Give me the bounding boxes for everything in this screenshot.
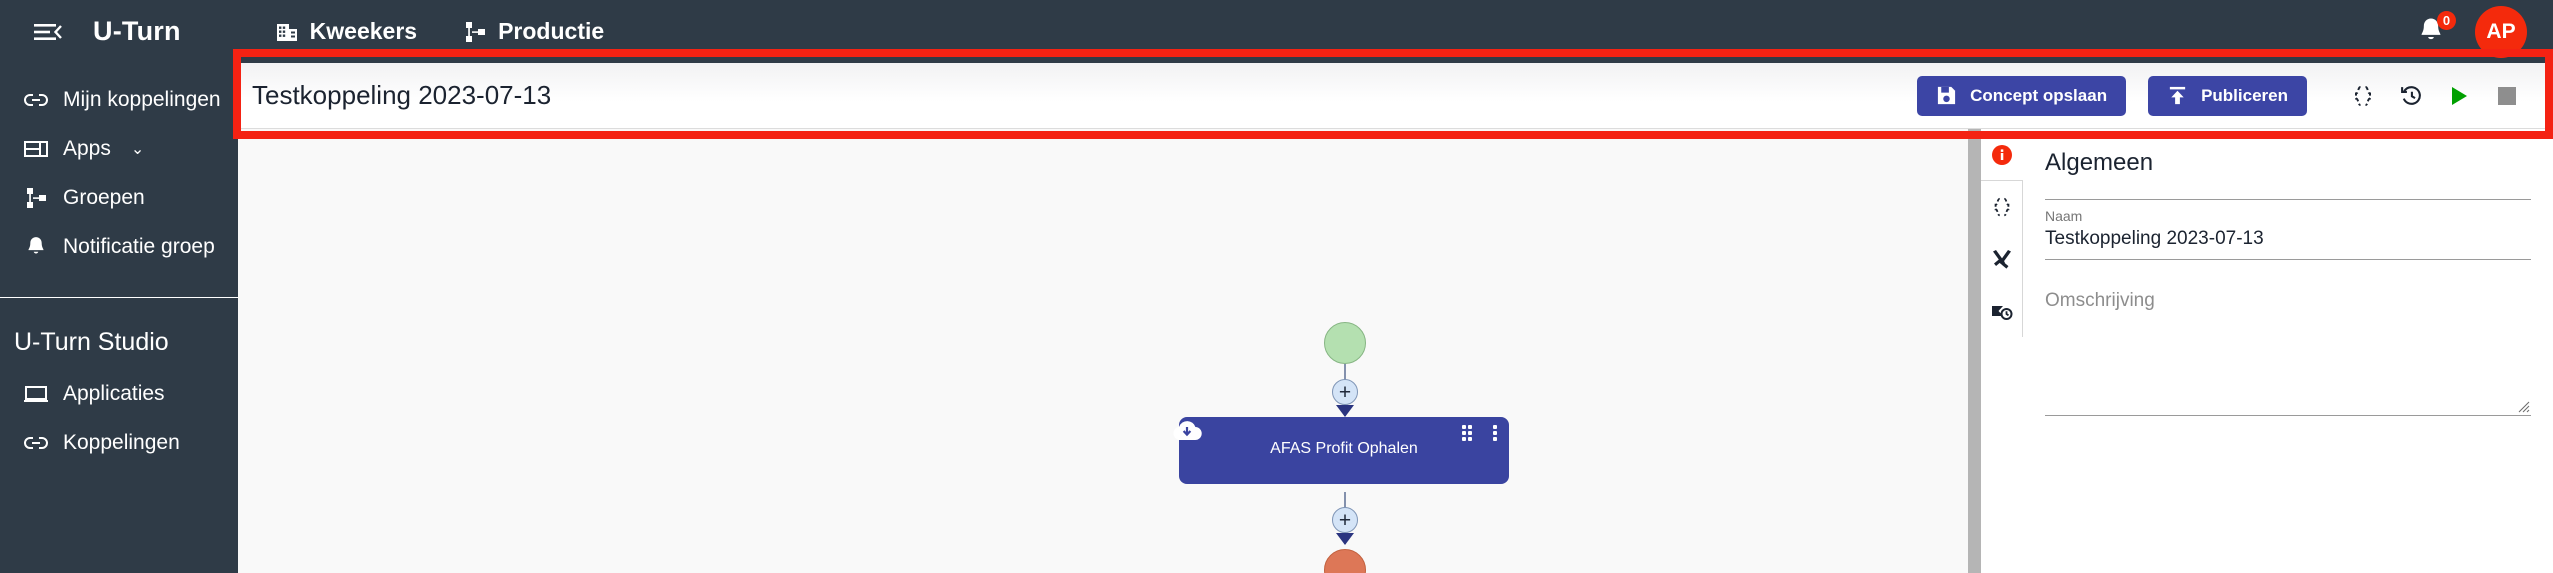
flow-canvas[interactable]: + AFAS Profit Ophalen + <box>238 129 1968 573</box>
toolbar-actions: Concept opslaan Publiceren <box>1917 74 2531 118</box>
rail-tab-scheduler[interactable] <box>1981 285 2023 337</box>
rail-tab-info[interactable] <box>1981 129 2023 181</box>
publish-label: Publiceren <box>2201 86 2288 106</box>
brand-title[interactable]: U-Turn <box>93 16 181 47</box>
sidebar-item-apps[interactable]: Apps ⌄ <box>0 124 238 173</box>
panel-title: Algemeen <box>2023 129 2553 177</box>
sidebar-label-groepen: Groepen <box>63 186 145 210</box>
start-node[interactable] <box>1324 322 1366 364</box>
arrowhead-into-end <box>1336 533 1354 545</box>
sitemap-icon <box>463 20 487 44</box>
inspector-panel: Algemeen Naam Testkoppeling 2023-07-13 O… <box>2023 129 2553 573</box>
sidebar-item-koppelingen[interactable]: Koppelingen <box>0 418 238 467</box>
save-floppy-icon <box>1936 85 1957 106</box>
rail-tab-tools[interactable] <box>1981 233 2023 285</box>
nav-label-kweekers: Kweekers <box>310 18 417 45</box>
monitor-icon <box>23 385 49 403</box>
appbar-right-group: 0 AP <box>2417 6 2527 58</box>
sidebar-label-notificatie-groep: Notificatie groep <box>63 235 215 259</box>
notification-badge: 0 <box>2437 11 2456 30</box>
stop-button[interactable] <box>2483 74 2531 118</box>
canvas-scrollbar[interactable] <box>1968 129 1981 573</box>
app-window-icon <box>23 140 49 158</box>
add-step-button-bottom[interactable]: + <box>1332 507 1358 533</box>
field-naam: Naam Testkoppeling 2023-07-13 <box>2045 199 2531 260</box>
drag-grip-icon[interactable] <box>1462 425 1475 441</box>
save-draft-label: Concept opslaan <box>1970 86 2107 106</box>
run-button[interactable] <box>2435 74 2483 118</box>
nav-item-productie[interactable]: Productie <box>463 18 604 45</box>
link-icon <box>23 435 49 451</box>
save-draft-button[interactable]: Concept opslaan <box>1917 76 2126 116</box>
nav-label-productie: Productie <box>498 18 604 45</box>
sidebar-item-mijn-koppelingen[interactable]: Mijn koppelingen <box>0 75 238 124</box>
upload-arrow-icon <box>2167 85 2188 106</box>
sitemap-icon <box>23 186 49 210</box>
sidebar-item-notificatie-groep[interactable]: Notificatie groep <box>0 222 238 271</box>
cloud-download-icon <box>1170 418 1204 442</box>
page-title[interactable]: Testkoppeling 2023-07-13 <box>252 80 551 111</box>
description-field: Omschrijving <box>2045 290 2531 416</box>
flow-toolbar: Testkoppeling 2023-07-13 Concept opslaan… <box>238 63 2553 129</box>
resize-handle-icon[interactable] <box>2518 401 2530 413</box>
publish-button[interactable]: Publiceren <box>2148 76 2307 116</box>
link-icon <box>23 92 49 108</box>
curly-braces-icon <box>2351 84 2375 108</box>
sidebar-item-applicaties[interactable]: Applicaties <box>0 369 238 418</box>
history-clock-icon <box>2399 83 2424 108</box>
hamburger-collapse-icon[interactable] <box>33 21 63 43</box>
view-code-button[interactable] <box>2339 74 2387 118</box>
name-input[interactable]: Testkoppeling 2023-07-13 <box>2045 224 2531 260</box>
sidebar-label-mijn-koppelingen: Mijn koppelingen <box>63 88 221 112</box>
sidebar-label-applicaties: Applicaties <box>63 382 165 406</box>
nav-item-kweekers[interactable]: Kweekers <box>275 18 417 45</box>
tools-icon <box>1990 247 2014 271</box>
sidebar-label-koppelingen: Koppelingen <box>63 431 180 455</box>
sidebar-label-apps: Apps <box>63 137 111 161</box>
building-icon <box>275 20 299 44</box>
play-triangle-icon <box>2448 85 2470 107</box>
more-vertical-icon[interactable] <box>1493 425 1497 441</box>
avatar[interactable]: AP <box>2475 6 2527 58</box>
canvas-scrollbar-thumb[interactable] <box>1968 129 1981 573</box>
end-node[interactable] <box>1324 549 1366 573</box>
rail-tab-code[interactable] <box>1981 181 2023 233</box>
top-app-bar: U-Turn Kweekers <box>0 0 2553 63</box>
history-button[interactable] <box>2387 74 2435 118</box>
field-label-naam: Naam <box>2045 208 2531 224</box>
bell-icon <box>23 235 49 259</box>
info-circle-icon <box>1990 143 2014 167</box>
sidebar-divider <box>0 297 238 298</box>
sidebar-studio-heading: U-Turn Studio <box>0 328 238 357</box>
inspector-rail <box>1981 129 2023 573</box>
stop-square-icon <box>2497 86 2517 106</box>
description-underline <box>2045 415 2531 416</box>
curly-braces-icon <box>1991 196 2013 218</box>
scheduler-icon <box>1990 299 2014 323</box>
flow-graph: + AFAS Profit Ophalen + <box>238 129 1968 573</box>
arrowhead-into-node <box>1336 405 1354 417</box>
description-input[interactable]: Omschrijving <box>2045 290 2531 312</box>
left-sidebar: Mijn koppelingen Apps ⌄ Groepen <box>0 63 238 573</box>
chevron-down-icon: ⌄ <box>131 139 144 159</box>
notifications-button[interactable]: 0 <box>2417 16 2447 48</box>
flow-node-afas-profit-ophalen[interactable]: AFAS Profit Ophalen <box>1179 417 1509 484</box>
flow-node-label: AFAS Profit Ophalen <box>1179 440 1509 458</box>
sidebar-item-groepen[interactable]: Groepen <box>0 173 238 222</box>
add-step-button-top[interactable]: + <box>1332 379 1358 405</box>
